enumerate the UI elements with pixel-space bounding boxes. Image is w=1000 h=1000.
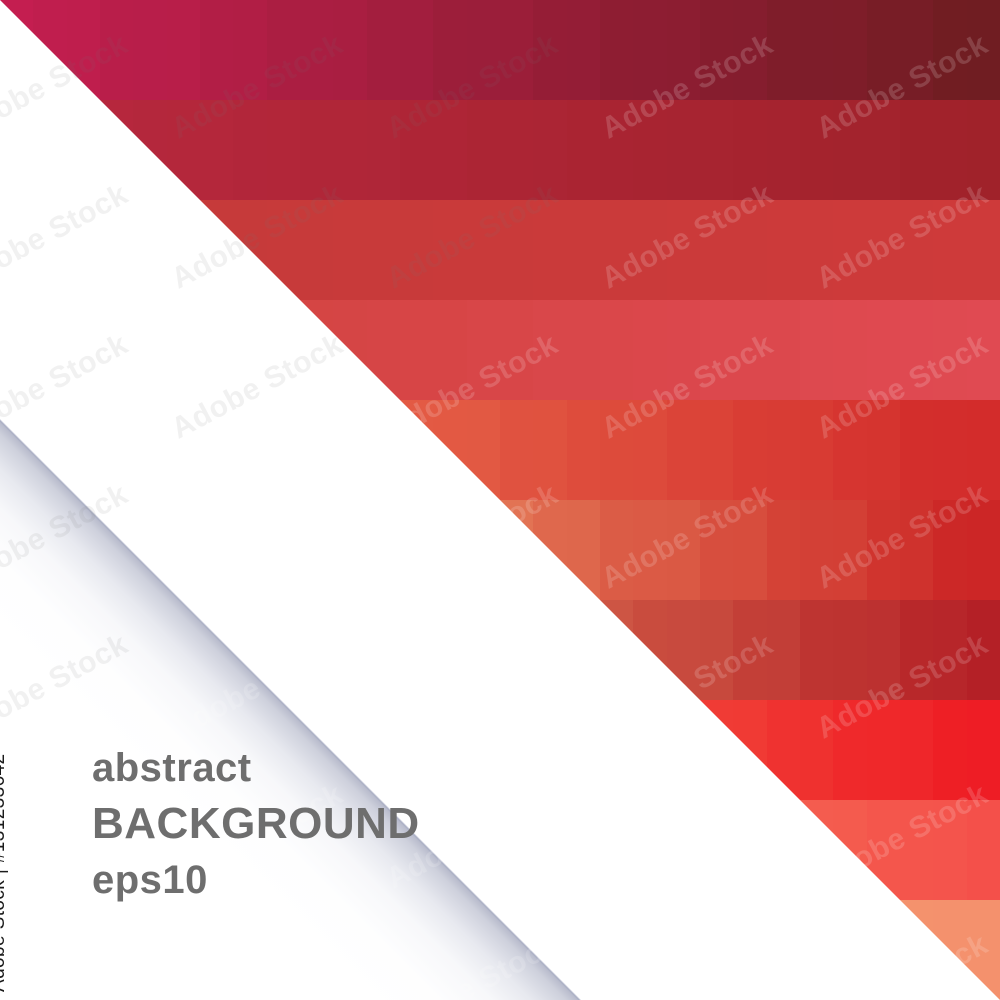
mosaic-cell	[633, 100, 666, 200]
watermark-text: Adobe Stock	[166, 478, 349, 597]
mosaic-cell	[67, 900, 100, 1000]
mosaic-cell	[933, 100, 966, 200]
mosaic-cell	[100, 300, 133, 400]
mosaic-cell	[467, 100, 500, 200]
mosaic-cell	[700, 0, 733, 100]
mosaic-cell	[800, 0, 833, 100]
mosaic-cell	[67, 500, 100, 600]
mosaic-cell	[300, 900, 333, 1000]
mosaic-cell	[767, 0, 800, 100]
mosaic-cell	[600, 800, 633, 900]
mosaic-cell	[733, 400, 766, 500]
mosaic-cell	[700, 600, 733, 700]
mosaic-cell	[67, 600, 100, 700]
mosaic-cell	[500, 300, 533, 400]
mosaic-cell	[967, 0, 1000, 100]
mosaic-cell	[67, 400, 100, 500]
mosaic-cell	[233, 0, 266, 100]
mosaic-cell	[967, 500, 1000, 600]
mosaic-cell	[567, 200, 600, 300]
mosaic-band	[0, 900, 1000, 1000]
caption-line-eps10: eps10	[92, 860, 420, 900]
mosaic-cell	[433, 800, 466, 900]
mosaic-cell	[867, 800, 900, 900]
mosaic-cell	[733, 500, 766, 600]
mosaic-band	[0, 600, 1000, 700]
mosaic-cell	[0, 400, 33, 500]
mosaic-cell	[300, 100, 333, 200]
mosaic-cell	[900, 700, 933, 800]
mosaic-cell	[900, 400, 933, 500]
watermark-text: Adobe Stock	[0, 178, 133, 297]
mosaic-cell	[100, 200, 133, 300]
mosaic-cell	[167, 0, 200, 100]
mosaic-cell	[800, 100, 833, 200]
mosaic-cell	[833, 800, 866, 900]
mosaic-cell	[933, 700, 966, 800]
mosaic-cell	[0, 100, 33, 200]
mosaic-cell	[667, 600, 700, 700]
mosaic-cell	[667, 800, 700, 900]
mosaic-cell	[433, 300, 466, 400]
mosaic-cell	[33, 600, 66, 700]
mosaic-cell	[967, 600, 1000, 700]
mosaic-cell	[500, 0, 533, 100]
mosaic-cell	[333, 600, 366, 700]
mosaic-cell	[833, 900, 866, 1000]
mosaic-cell	[200, 900, 233, 1000]
mosaic-cell	[667, 100, 700, 200]
mosaic-cell	[367, 600, 400, 700]
mosaic-cell	[233, 900, 266, 1000]
mosaic-cell	[233, 100, 266, 200]
mosaic-cell	[133, 300, 166, 400]
mosaic-cell	[333, 200, 366, 300]
mosaic-cell	[433, 700, 466, 800]
mosaic-cell	[200, 500, 233, 600]
mosaic-cell	[233, 200, 266, 300]
mosaic-cell	[600, 700, 633, 800]
mosaic-cell	[900, 300, 933, 400]
mosaic-cell	[633, 300, 666, 400]
mosaic-cell	[133, 400, 166, 500]
mosaic-cell	[533, 100, 566, 200]
mosaic-cell	[633, 500, 666, 600]
mosaic-cell	[333, 400, 366, 500]
mosaic-cell	[967, 700, 1000, 800]
mosaic-cell	[767, 400, 800, 500]
mosaic-cell	[900, 600, 933, 700]
mosaic-band	[0, 200, 1000, 300]
mosaic-cell	[733, 800, 766, 900]
mosaic-cell	[200, 400, 233, 500]
mosaic-cell	[133, 100, 166, 200]
mosaic-cell	[33, 500, 66, 600]
mosaic-cell	[567, 600, 600, 700]
mosaic-cell	[800, 200, 833, 300]
mosaic-cell	[600, 600, 633, 700]
mosaic-cell	[300, 600, 333, 700]
mosaic-cell	[233, 300, 266, 400]
mosaic-cell	[867, 700, 900, 800]
mosaic-cell	[900, 0, 933, 100]
mosaic-cell	[467, 600, 500, 700]
caption-line-abstract: abstract	[92, 748, 420, 788]
mosaic-cell	[733, 200, 766, 300]
mosaic-cell	[767, 800, 800, 900]
mosaic-cell	[667, 200, 700, 300]
mosaic-cell	[267, 500, 300, 600]
mosaic-cell	[400, 200, 433, 300]
mosaic-cell	[367, 300, 400, 400]
mosaic-cell	[367, 0, 400, 100]
mosaic-cell	[400, 300, 433, 400]
mosaic-cell	[567, 300, 600, 400]
caption-block: abstract BACKGROUND eps10	[92, 748, 420, 900]
mosaic-cell	[767, 500, 800, 600]
mosaic-cell	[367, 500, 400, 600]
mosaic-cell	[67, 0, 100, 100]
mosaic-cell	[633, 400, 666, 500]
watermark-text: Adobe Stock	[166, 328, 349, 447]
mosaic-band	[0, 300, 1000, 400]
mosaic-cell	[867, 100, 900, 200]
mosaic-cell	[300, 0, 333, 100]
mosaic-cell	[633, 200, 666, 300]
mosaic-cell	[100, 400, 133, 500]
mosaic-cell	[867, 200, 900, 300]
mosaic-cell	[667, 300, 700, 400]
mosaic-cell	[0, 600, 33, 700]
mosaic-cell	[167, 300, 200, 400]
mosaic-band	[0, 400, 1000, 500]
mosaic-cell	[600, 900, 633, 1000]
mosaic-cell	[300, 500, 333, 600]
mosaic-cell	[167, 400, 200, 500]
mosaic-band	[0, 500, 1000, 600]
mosaic-cell	[467, 900, 500, 1000]
mosaic-cell	[500, 900, 533, 1000]
mosaic-cell	[400, 100, 433, 200]
watermark-text: Adobe Stock	[166, 928, 349, 1000]
mosaic-cell	[767, 100, 800, 200]
mosaic-cell	[400, 900, 433, 1000]
mosaic-cell	[167, 200, 200, 300]
mosaic-cell	[433, 500, 466, 600]
mosaic-cell	[333, 500, 366, 600]
mosaic-cell	[67, 300, 100, 400]
mosaic-cell	[133, 900, 166, 1000]
mosaic-cell	[100, 500, 133, 600]
mosaic-cell	[800, 700, 833, 800]
mosaic-cell	[0, 300, 33, 400]
mosaic-cell	[333, 300, 366, 400]
mosaic-cell	[867, 900, 900, 1000]
mosaic-cell	[833, 300, 866, 400]
mosaic-cell	[967, 900, 1000, 1000]
mosaic-cell	[0, 0, 33, 100]
mosaic-cell	[233, 500, 266, 600]
mosaic-cell	[867, 500, 900, 600]
mosaic-cell	[433, 200, 466, 300]
mosaic-cell	[700, 900, 733, 1000]
mosaic-cell	[467, 200, 500, 300]
mosaic-cell	[300, 300, 333, 400]
mosaic-cell	[700, 100, 733, 200]
watermark-text: Adobe Stock	[381, 628, 564, 747]
mosaic-cell	[333, 0, 366, 100]
mosaic-cell	[433, 400, 466, 500]
mosaic-cell	[700, 400, 733, 500]
mosaic-cell	[567, 500, 600, 600]
mosaic-cell	[933, 800, 966, 900]
mosaic-cell	[100, 900, 133, 1000]
mosaic-cell	[267, 300, 300, 400]
watermark-text: Adobe Stock	[0, 328, 133, 447]
mosaic-cell	[433, 0, 466, 100]
mosaic-cell	[900, 800, 933, 900]
watermark-text: Adobe Stock	[596, 928, 779, 1000]
mosaic-cell	[967, 400, 1000, 500]
mosaic-cell	[600, 300, 633, 400]
mosaic-cell	[833, 500, 866, 600]
mosaic-cell	[833, 0, 866, 100]
mosaic-cell	[600, 400, 633, 500]
mosaic-cell	[267, 0, 300, 100]
mosaic-cell	[867, 600, 900, 700]
mosaic-cell	[800, 400, 833, 500]
mosaic-cell	[967, 800, 1000, 900]
mosaic-cell	[100, 0, 133, 100]
mosaic-cell	[367, 100, 400, 200]
mosaic-cell	[600, 200, 633, 300]
mosaic-cell	[767, 900, 800, 1000]
mosaic-cell	[633, 700, 666, 800]
mosaic-cell	[167, 900, 200, 1000]
mosaic-cell	[700, 300, 733, 400]
mosaic-cell	[667, 400, 700, 500]
mosaic-cell	[667, 500, 700, 600]
mosaic-cell	[67, 100, 100, 200]
mosaic-cell	[467, 700, 500, 800]
mosaic-cell	[33, 0, 66, 100]
mosaic-cell	[833, 100, 866, 200]
mosaic-cell	[933, 400, 966, 500]
mosaic-cell	[300, 400, 333, 500]
mosaic-cell	[767, 300, 800, 400]
mosaic-cell	[867, 0, 900, 100]
mosaic-cell	[533, 200, 566, 300]
mosaic-cell	[567, 900, 600, 1000]
mosaic-cell	[767, 200, 800, 300]
mosaic-cell	[100, 100, 133, 200]
mosaic-cell	[933, 600, 966, 700]
mosaic-cell	[0, 500, 33, 600]
mosaic-cell	[600, 100, 633, 200]
mosaic-cell	[533, 700, 566, 800]
mosaic-cell	[667, 0, 700, 100]
mosaic-cell	[200, 600, 233, 700]
mosaic-cell	[833, 700, 866, 800]
watermark-text: Adobe Stock	[596, 778, 779, 897]
mosaic-cell	[967, 300, 1000, 400]
mosaic-cell	[33, 800, 66, 900]
stock-id-label: Adobe Stock | #131233642	[0, 754, 10, 993]
mosaic-cell	[833, 200, 866, 300]
mosaic-cell	[700, 800, 733, 900]
mosaic-cell	[133, 0, 166, 100]
mosaic-cell	[267, 200, 300, 300]
mosaic-cell	[233, 600, 266, 700]
mosaic-cell	[133, 200, 166, 300]
mosaic-cell	[967, 100, 1000, 200]
mosaic-cell	[533, 400, 566, 500]
mosaic-cell	[800, 900, 833, 1000]
mosaic-cell	[500, 600, 533, 700]
mosaic-cell	[800, 800, 833, 900]
mosaic-cell	[567, 100, 600, 200]
mosaic-cell	[267, 600, 300, 700]
mosaic-cell	[467, 0, 500, 100]
mosaic-cell	[800, 300, 833, 400]
mosaic-cell	[533, 600, 566, 700]
artwork-canvas: Adobe StockAdobe StockAdobe StockAdobe S…	[0, 0, 1000, 1000]
mosaic-cell	[467, 300, 500, 400]
mosaic-cell	[500, 500, 533, 600]
mosaic-cell	[267, 100, 300, 200]
mosaic-cell	[933, 500, 966, 600]
mosaic-band	[0, 100, 1000, 200]
mosaic-cell	[600, 0, 633, 100]
mosaic-cell	[333, 100, 366, 200]
mosaic-cell	[533, 0, 566, 100]
mosaic-cell	[167, 600, 200, 700]
mosaic-cell	[900, 500, 933, 600]
mosaic-cell	[767, 600, 800, 700]
mosaic-cell	[833, 400, 866, 500]
mosaic-cell	[900, 200, 933, 300]
mosaic-cell	[400, 400, 433, 500]
mosaic-cell	[200, 300, 233, 400]
mosaic-cell	[800, 500, 833, 600]
mosaic-cell	[33, 900, 66, 1000]
mosaic-cell	[867, 300, 900, 400]
mosaic-cell	[900, 100, 933, 200]
mosaic-cell	[633, 900, 666, 1000]
mosaic-cell	[467, 800, 500, 900]
mosaic-cell	[567, 800, 600, 900]
caption-line-background: BACKGROUND	[92, 802, 420, 846]
mosaic-cell	[500, 800, 533, 900]
mosaic-cell	[633, 0, 666, 100]
mosaic-cell	[467, 400, 500, 500]
mosaic-cell	[33, 200, 66, 300]
mosaic-cell	[200, 0, 233, 100]
mosaic-cell	[500, 100, 533, 200]
mosaic-cell	[733, 700, 766, 800]
mosaic-cell	[733, 100, 766, 200]
mosaic-cell	[567, 700, 600, 800]
mosaic-cell	[933, 300, 966, 400]
mosaic-cell	[533, 300, 566, 400]
mosaic-cell	[167, 500, 200, 600]
watermark-text: Adobe Stock	[381, 928, 564, 1000]
mosaic-cell	[200, 200, 233, 300]
watermark-text: Adobe Stock	[0, 628, 133, 747]
mosaic-cell	[900, 900, 933, 1000]
mosaic-cell	[267, 400, 300, 500]
mosaic-cell	[667, 900, 700, 1000]
mosaic-cell	[700, 700, 733, 800]
mosaic-cell	[533, 800, 566, 900]
mosaic-cell	[700, 200, 733, 300]
mosaic-cell	[500, 200, 533, 300]
mosaic-cell	[33, 700, 66, 800]
mosaic-cell	[33, 100, 66, 200]
mosaic-cell	[933, 900, 966, 1000]
mosaic-cell	[100, 600, 133, 700]
mosaic-cell	[367, 900, 400, 1000]
mosaic-cell	[367, 200, 400, 300]
mosaic-cell	[533, 500, 566, 600]
mosaic-cell	[867, 400, 900, 500]
mosaic-cell	[967, 200, 1000, 300]
mosaic-cell	[400, 600, 433, 700]
mosaic-cell	[733, 300, 766, 400]
mosaic-cell	[767, 700, 800, 800]
mosaic-cell	[133, 500, 166, 600]
mosaic-cell	[333, 900, 366, 1000]
mosaic-cell	[533, 900, 566, 1000]
mosaic-cell	[633, 800, 666, 900]
mosaic-cell	[733, 0, 766, 100]
mosaic-cell	[567, 0, 600, 100]
mosaic-cell	[933, 200, 966, 300]
mosaic-cell	[33, 400, 66, 500]
mosaic-cell	[467, 500, 500, 600]
mosaic-cell	[733, 900, 766, 1000]
mosaic-cell	[500, 400, 533, 500]
mosaic-cell	[800, 600, 833, 700]
mosaic-cell	[633, 600, 666, 700]
mosaic-cell	[600, 500, 633, 600]
mosaic-cell	[267, 900, 300, 1000]
mosaic-cell	[33, 300, 66, 400]
mosaic-cell	[400, 0, 433, 100]
mosaic-cell	[500, 700, 533, 800]
mosaic-cell	[200, 100, 233, 200]
mosaic-cell	[433, 100, 466, 200]
watermark-text: Adobe Stock	[166, 628, 349, 747]
mosaic-cell	[400, 500, 433, 600]
mosaic-cell	[833, 600, 866, 700]
mosaic-band	[0, 0, 1000, 100]
mosaic-cell	[700, 500, 733, 600]
mosaic-cell	[433, 600, 466, 700]
watermark-text: Adobe Stock	[0, 478, 133, 597]
mosaic-cell	[167, 100, 200, 200]
mosaic-cell	[667, 700, 700, 800]
mosaic-cell	[233, 400, 266, 500]
mosaic-cell	[133, 600, 166, 700]
mosaic-cell	[567, 400, 600, 500]
mosaic-cell	[67, 200, 100, 300]
watermark-text: Adobe Stock	[0, 928, 133, 1000]
mosaic-cell	[433, 900, 466, 1000]
mosaic-cell	[367, 400, 400, 500]
mosaic-cell	[733, 600, 766, 700]
mosaic-cell	[0, 200, 33, 300]
